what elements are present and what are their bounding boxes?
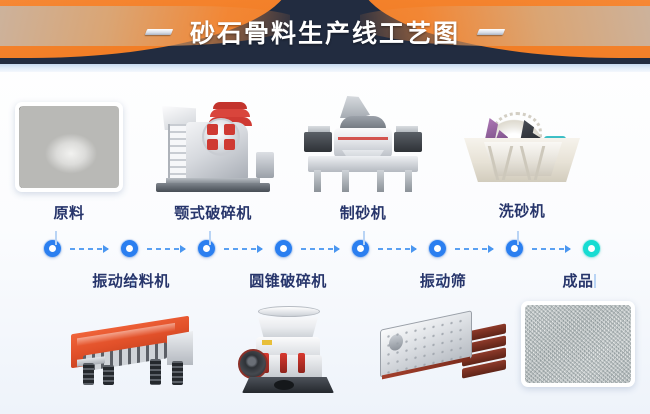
process-flow-line [0,228,650,270]
vibrating-feeder-art [67,295,195,389]
vibrating-screen-icon [380,304,506,382]
stage-label: 振动筛 [420,270,467,291]
flow-node-7[interactable] [506,240,523,257]
page-title: 砂石骨料生产线工艺图 [0,0,650,64]
flow-node-6[interactable] [429,240,446,257]
sand-making-machine-icon [304,92,422,192]
sand-making-machine-art [304,90,422,192]
dash-ornament-right-icon [477,29,505,35]
vibrating-feeder-icon [67,299,195,385]
stage-vibrating-feeder[interactable]: 振动给料机 [62,270,200,389]
raw-material-art [15,94,123,192]
stage-label: 原料 [53,202,84,223]
flow-node-5[interactable] [352,240,369,257]
flow-node-4[interactable] [275,240,292,257]
flow-arrow-6 [455,248,493,250]
photo-card [15,102,123,192]
dash-ornament-left-icon [145,29,173,35]
stage-vibrating-screen[interactable]: 振动筛 [380,270,506,391]
page-title-text: 砂石骨料生产线工艺图 [190,14,460,50]
flow-node-1[interactable] [44,240,61,257]
bottom-stage-row: 振动给料机 圆锥破碎机 [0,270,650,414]
top-stage-row: 原料 颚式破碎机 [0,78,650,228]
flow-node-8-finished[interactable] [583,240,600,257]
stage-jaw-crusher[interactable]: 颚式破碎机 [145,86,281,223]
stage-label: 制砂机 [340,202,387,223]
stage-finished-product[interactable]: 成品 [516,270,640,393]
finished-sand-photo-icon [525,305,631,383]
cone-crusher-art [236,295,340,395]
cone-crusher-icon [236,297,340,393]
jaw-crusher-art [150,86,276,192]
process-flow-diagram: 砂石骨料生产线工艺图 原料 [0,0,650,414]
stage-sand-making-machine[interactable]: 制砂机 [300,90,426,223]
jaw-crusher-icon [150,88,276,192]
stage-sand-washing-machine[interactable]: 洗砂机 [458,96,586,221]
stage-label: 颚式破碎机 [174,202,252,223]
header-banner: 砂石骨料生产线工艺图 [0,0,650,64]
stage-label: 洗砂机 [499,200,546,221]
rock-photo-icon [19,106,119,188]
stage-raw-material[interactable]: 原料 [13,94,125,223]
flow-arrow-2 [147,248,185,250]
sand-washing-machine-art [462,96,582,190]
stage-label: 振动给料机 [92,270,170,291]
flow-node-2[interactable] [121,240,138,257]
photo-card [521,301,635,387]
vibrating-screen-art [380,295,506,391]
flow-arrow-7 [532,248,570,250]
stage-cone-crusher[interactable]: 圆锥破碎机 [222,270,354,395]
header-underline-strip [0,64,650,72]
flow-node-3[interactable] [198,240,215,257]
flow-arrow-1 [70,248,108,250]
stage-label: 圆锥破碎机 [249,270,327,291]
flow-arrow-3 [224,248,262,250]
stage-label: 成品 [562,270,593,291]
flow-arrow-5 [378,248,416,250]
flow-arrow-4 [301,248,339,250]
finished-product-art [521,295,635,393]
sand-washing-machine-icon [462,98,582,190]
